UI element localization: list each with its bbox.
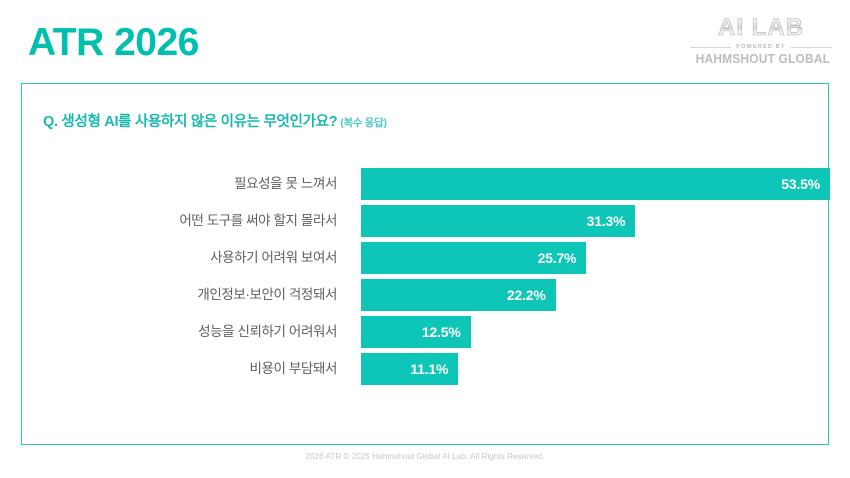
bar-value-label: 12.5% <box>422 324 471 340</box>
bar-category-label: 성능을 신뢰하기 어려워서 <box>22 316 348 348</box>
footer-copyright: 2026 ATR © 2025 Hahmshout Global AI Lab.… <box>0 452 850 461</box>
logo-main-text: AI LAB <box>690 16 832 40</box>
bar-fill: 31.3% <box>361 205 635 237</box>
ai-lab-logo: AI LAB POWERED BY HAHMSHOUT GLOBAL <box>690 16 832 65</box>
bar-value-label: 25.7% <box>538 250 587 266</box>
bar-value-label: 22.2% <box>507 287 556 303</box>
bar-category-label: 필요성을 못 느껴서 <box>22 168 348 200</box>
bar-fill: 11.1% <box>361 353 458 385</box>
question-note: (복수 응답) <box>340 117 386 129</box>
question-text: Q. 생성형 AI를 사용하지 않은 이유는 무엇인가요? <box>43 114 337 130</box>
slide-header: ATR 2026 AI LAB POWERED BY HAHMSHOUT GLO… <box>0 0 850 83</box>
logo-powered-by-text: POWERED BY <box>736 44 786 50</box>
bar-value-label: 53.5% <box>781 176 830 192</box>
bar-track: 12.5% <box>361 316 830 348</box>
bar-row: 어떤 도구를 써야 할지 몰라서31.3% <box>22 205 830 237</box>
bar-fill: 25.7% <box>361 242 586 274</box>
bar-fill: 53.5% <box>361 168 830 200</box>
bar-track: 25.7% <box>361 242 830 274</box>
logo-divider-left <box>690 47 731 48</box>
page-title: ATR 2026 <box>28 22 199 65</box>
content-panel: Q. 생성형 AI를 사용하지 않은 이유는 무엇인가요?(복수 응답) 필요성… <box>21 83 829 445</box>
logo-company-name: HAHMSHOUT GLOBAL <box>696 52 827 65</box>
bar-category-label: 어떤 도구를 써야 할지 몰라서 <box>22 205 348 237</box>
bar-row: 성능을 신뢰하기 어려워서12.5% <box>22 316 830 348</box>
bar-track: 31.3% <box>361 205 830 237</box>
bar-fill: 12.5% <box>361 316 471 348</box>
bar-row: 개인정보·보안이 걱정돼서22.2% <box>22 279 830 311</box>
bar-value-label: 11.1% <box>410 361 458 377</box>
bar-track: 11.1% <box>361 353 830 385</box>
bar-category-label: 개인정보·보안이 걱정돼서 <box>22 279 348 311</box>
bar-row: 사용하기 어려워 보여서25.7% <box>22 242 830 274</box>
bar-fill: 22.2% <box>361 279 556 311</box>
bar-row: 필요성을 못 느껴서53.5% <box>22 168 830 200</box>
logo-powered-by-row: POWERED BY <box>690 44 832 50</box>
slide-root: ATR 2026 AI LAB POWERED BY HAHMSHOUT GLO… <box>0 0 850 478</box>
bar-category-label: 비용이 부담돼서 <box>22 353 348 385</box>
bar-track: 22.2% <box>361 279 830 311</box>
bar-track: 53.5% <box>361 168 830 200</box>
bar-value-label: 31.3% <box>587 213 636 229</box>
bar-category-label: 사용하기 어려워 보여서 <box>22 242 348 274</box>
bar-chart: 필요성을 못 느껴서53.5%어떤 도구를 써야 할지 몰라서31.3%사용하기… <box>22 168 830 390</box>
bar-row: 비용이 부담돼서11.1% <box>22 353 830 385</box>
logo-divider-right <box>791 47 832 48</box>
question-heading: Q. 생성형 AI를 사용하지 않은 이유는 무엇인가요?(복수 응답) <box>43 110 387 131</box>
